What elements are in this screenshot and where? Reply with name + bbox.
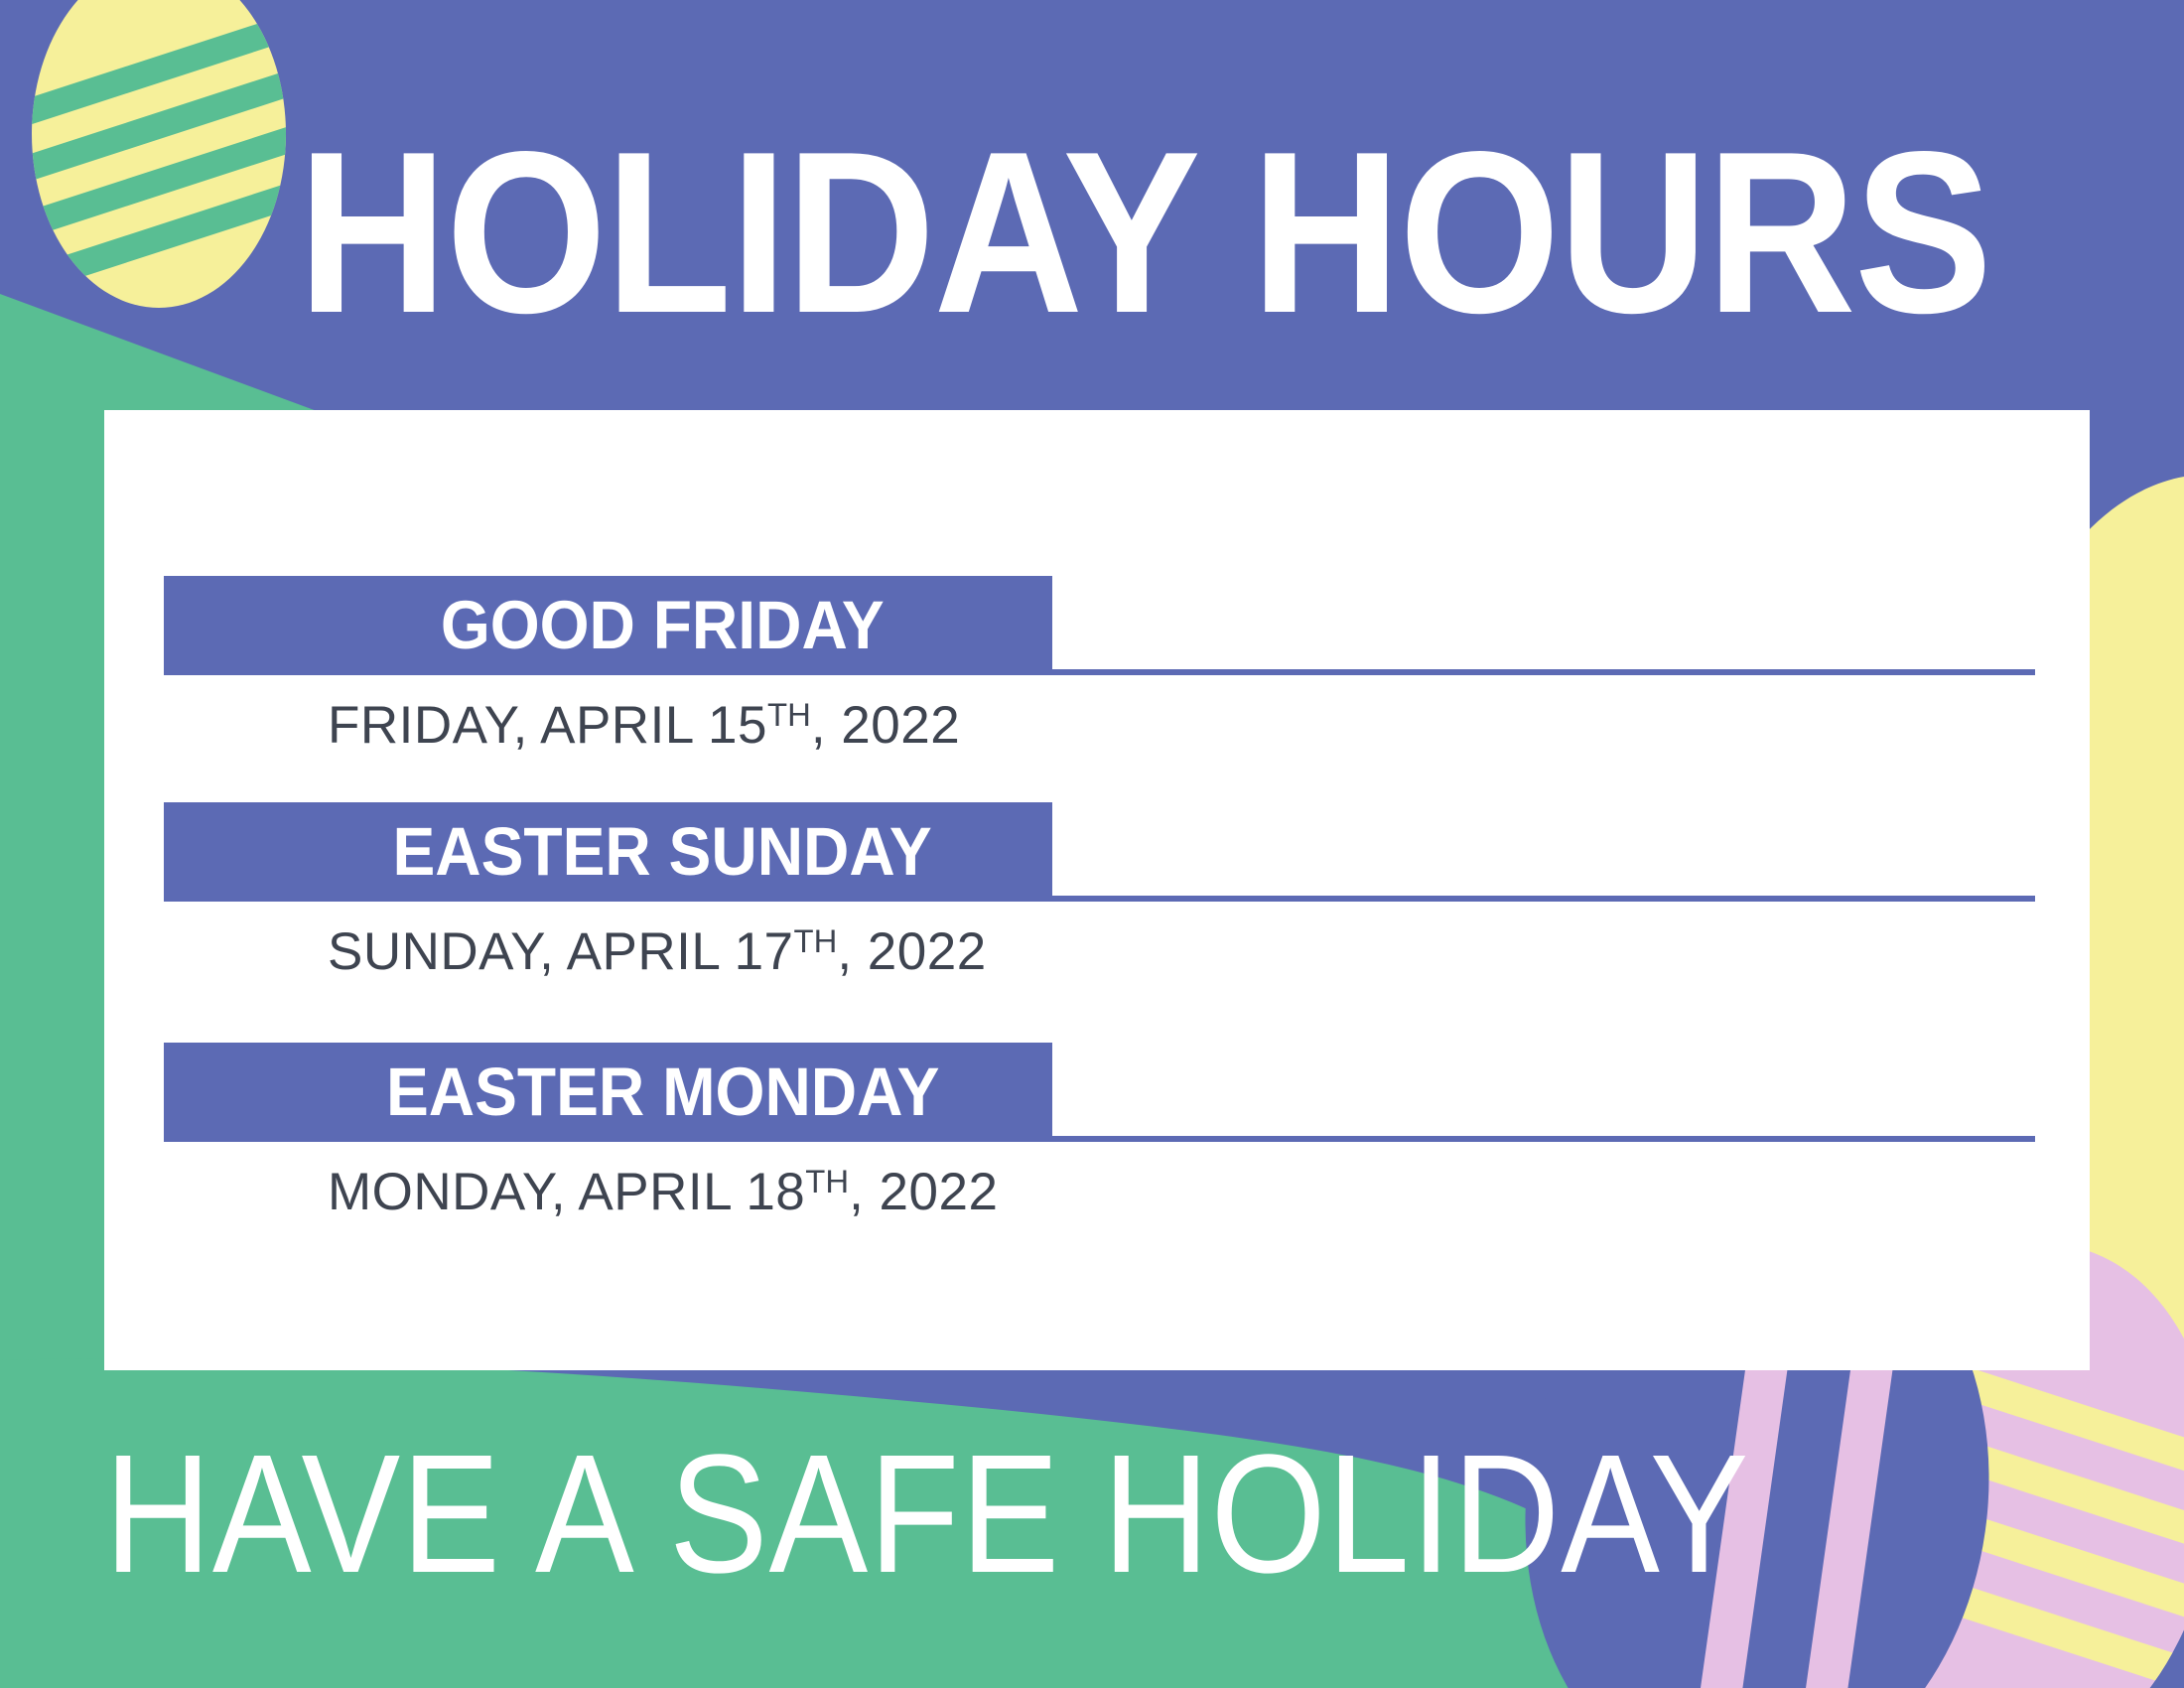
holiday-date-ordinal: TH <box>794 922 838 959</box>
holiday-date-prefix: FRIDAY, APRIL 15 <box>328 696 767 755</box>
holiday-date-prefix: SUNDAY, APRIL 17 <box>328 922 794 981</box>
holiday-date-suffix: , 2022 <box>811 696 960 755</box>
page-title: HOLIDAY HOURS <box>298 119 1817 348</box>
holiday-date-suffix: , 2022 <box>849 1163 998 1221</box>
holiday-label-bar: EASTER SUNDAY <box>164 802 1052 902</box>
holiday-date: MONDAY, APRIL 18TH, 2022 <box>328 1152 998 1222</box>
holiday-label-bar: EASTER MONDAY <box>164 1043 1052 1142</box>
holiday-label: EASTER MONDAY <box>386 1043 939 1142</box>
holiday-date-suffix: , 2022 <box>837 922 986 981</box>
hours-write-in-line[interactable] <box>1052 1136 2035 1142</box>
holiday-date: FRIDAY, APRIL 15TH, 2022 <box>328 685 960 756</box>
hours-write-in-line[interactable] <box>1052 896 2035 902</box>
holiday-date-ordinal: TH <box>805 1163 849 1199</box>
holiday-date: SUNDAY, APRIL 17TH, 2022 <box>328 912 987 982</box>
footer-message: HAVE A SAFE HOLIDAY <box>104 1430 1502 1599</box>
holiday-date-prefix: MONDAY, APRIL 18 <box>328 1163 805 1221</box>
holiday-date-ordinal: TH <box>767 696 811 733</box>
holiday-hours-poster: HOLIDAY HOURS GOOD FRIDAY FRIDAY, APRIL … <box>0 0 2184 1688</box>
holiday-label: GOOD FRIDAY <box>441 576 885 675</box>
holiday-label: EASTER SUNDAY <box>393 802 932 902</box>
holiday-label-bar: GOOD FRIDAY <box>164 576 1052 675</box>
hours-write-in-line[interactable] <box>1052 669 2035 675</box>
